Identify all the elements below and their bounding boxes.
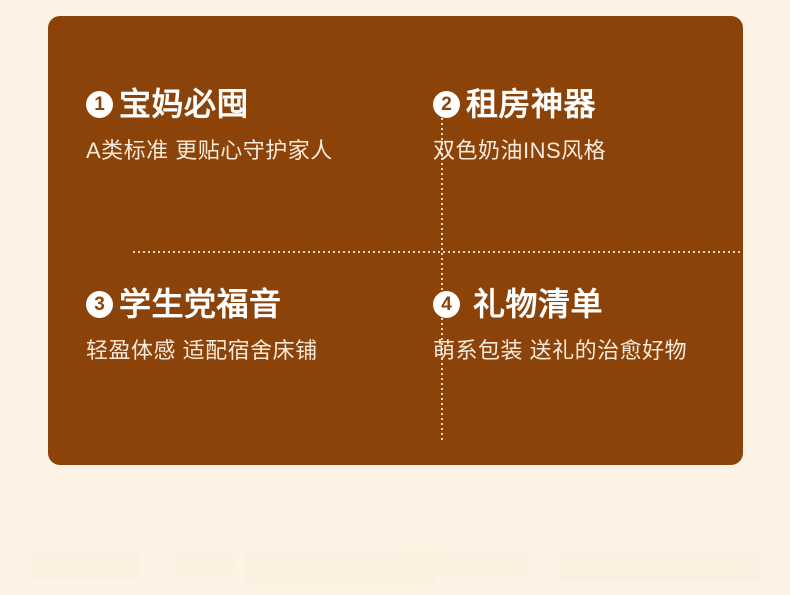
- wash-shape-4: [400, 551, 530, 577]
- wash-shape-1: [30, 553, 140, 579]
- feature-2-heading: 2 租房神器: [433, 88, 753, 120]
- feature-item-3: 3 学生党福音 轻盈体感 适配宿舍床铺: [86, 288, 406, 364]
- feature-card: 1 宝妈必囤 A类标准 更贴心守护家人 2 租房神器 双色奶油INS风格 3 学…: [48, 16, 743, 465]
- feature-2-subtitle: 双色奶油INS风格: [433, 138, 753, 164]
- feature-2-title: 租房神器: [466, 88, 596, 120]
- feature-4-title: 礼物清单: [473, 288, 603, 320]
- number-badge-4-icon: 4: [433, 291, 460, 318]
- feature-1-title: 宝妈必囤: [119, 88, 249, 120]
- number-badge-3-icon: 3: [86, 291, 113, 318]
- feature-1-subtitle: A类标准 更贴心守护家人: [86, 138, 406, 164]
- wash-shape-5: [560, 551, 760, 581]
- number-badge-1-icon: 1: [86, 91, 113, 118]
- feature-3-title: 学生党福音: [119, 288, 282, 320]
- horizontal-dotted-divider: [133, 251, 753, 253]
- feature-3-heading: 3 学生党福音: [86, 288, 406, 320]
- feature-4-subtitle: 萌系包装 送礼的治愈好物: [433, 338, 753, 364]
- background-wash: [0, 535, 790, 595]
- feature-item-1: 1 宝妈必囤 A类标准 更贴心守护家人: [86, 88, 406, 164]
- feature-item-4: 4 礼物清单 萌系包装 送礼的治愈好物: [433, 288, 753, 364]
- wash-shape-3: [245, 551, 435, 585]
- feature-3-subtitle: 轻盈体感 适配宿舍床铺: [86, 338, 406, 364]
- feature-item-2: 2 租房神器 双色奶油INS风格: [433, 88, 753, 164]
- feature-1-heading: 1 宝妈必囤: [86, 88, 406, 120]
- number-badge-2-icon: 2: [433, 91, 460, 118]
- feature-4-heading: 4 礼物清单: [433, 288, 753, 320]
- wash-shape-2: [175, 553, 235, 575]
